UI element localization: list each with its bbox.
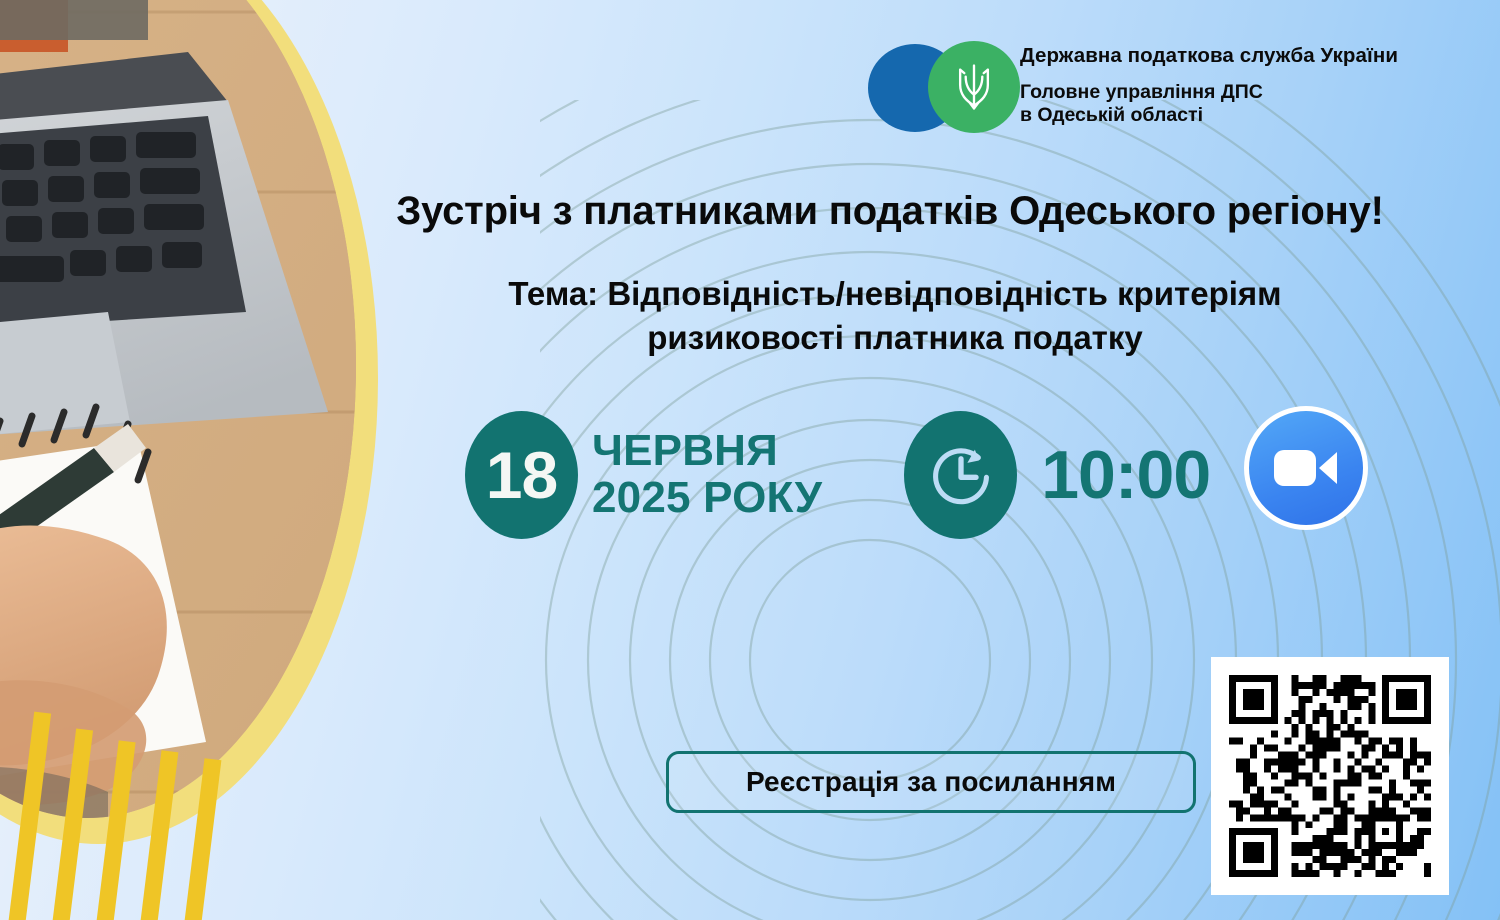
event-day-badge: 18: [465, 411, 578, 539]
stripe-1: [8, 712, 51, 920]
logo-green-circle-icon: [928, 41, 1020, 133]
video-camera-icon: [1273, 446, 1339, 490]
stripe-5: [184, 758, 221, 920]
qr-code-icon[interactable]: [1229, 675, 1431, 877]
poster-canvas: Державна податкова служба України Головн…: [0, 0, 1500, 920]
org-name-line2: Головне управління ДПС в Одеській област…: [1020, 81, 1398, 129]
registration-link-button[interactable]: Реєстрація за посиланням: [666, 751, 1196, 813]
trident-icon: [953, 60, 995, 114]
logo-marks: [868, 38, 1010, 134]
page-title: Зустріч з платниками податків Одеського …: [300, 188, 1480, 235]
page-subtitle: Тема: Відповідність/невідповідність крит…: [330, 272, 1460, 360]
event-time-badge: [904, 411, 1017, 539]
subtitle-line-2: ризиковості платника податку: [330, 316, 1460, 360]
stripe-3: [96, 740, 136, 920]
event-date-text: ЧЕРВНЯ 2025 РОКУ: [592, 428, 822, 521]
stripe-4: [140, 750, 178, 920]
clock-icon: [924, 438, 998, 512]
stripe-2: [52, 728, 93, 920]
subtitle-line-1: Тема: Відповідність/невідповідність крит…: [330, 272, 1460, 316]
event-month: ЧЕРВНЯ: [592, 428, 822, 475]
qr-code-card[interactable]: [1211, 657, 1449, 895]
event-info-row: 18 ЧЕРВНЯ 2025 РОКУ 10:00: [465, 405, 1210, 545]
decorative-stripes: [0, 696, 252, 920]
org-name-line1: Державна податкова служба України: [1020, 44, 1398, 69]
organization-logo: Державна податкова служба України Головн…: [868, 38, 1398, 134]
event-time-text: 10:00: [1041, 441, 1210, 509]
logo-text: Державна податкова служба України Головн…: [1020, 44, 1398, 128]
zoom-video-icon[interactable]: [1244, 406, 1368, 530]
event-year: 2025 РОКУ: [592, 475, 822, 522]
